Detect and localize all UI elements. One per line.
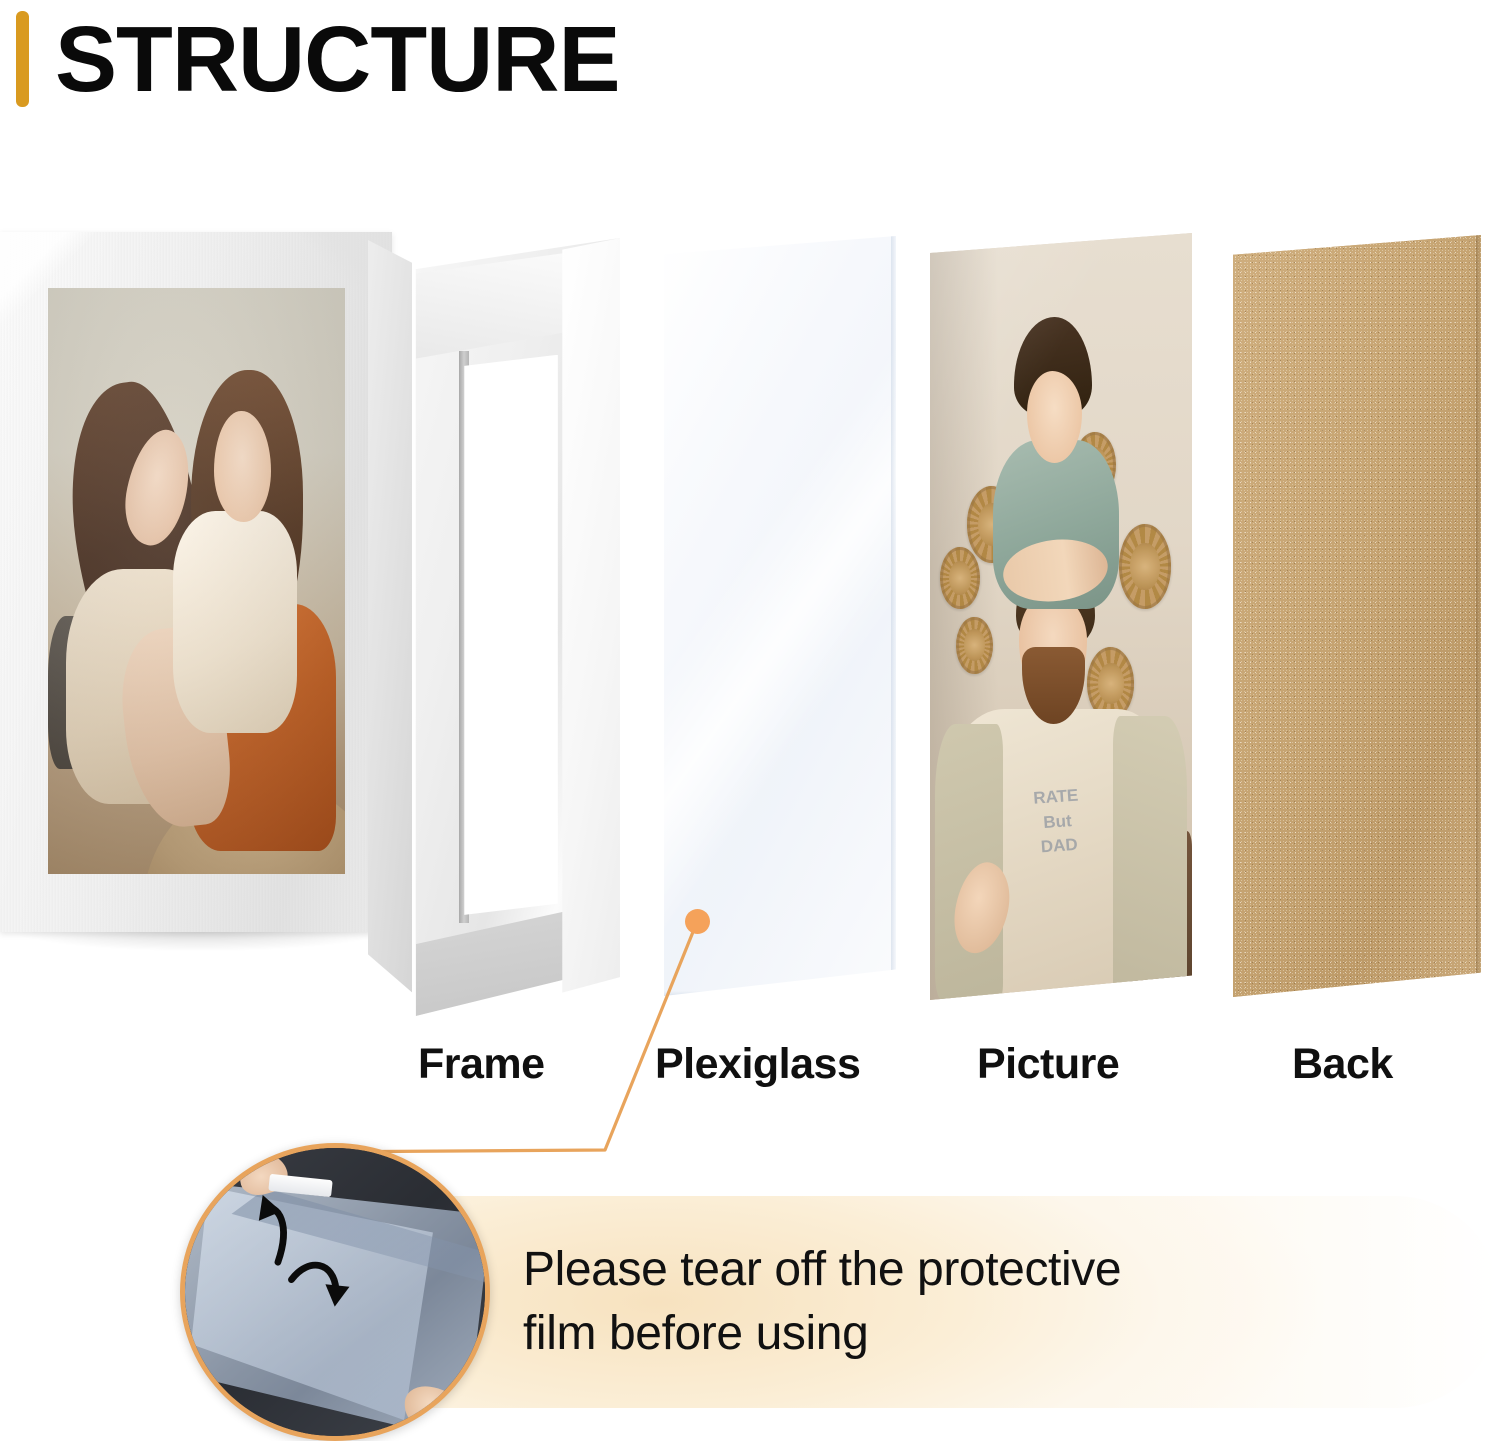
protective-film-photo-circle	[180, 1143, 490, 1441]
tip-line-2: film before using	[523, 1302, 1323, 1366]
callout-dot-plexiglass	[685, 909, 710, 934]
infographic-page: STRUCTURE	[0, 0, 1500, 1441]
label-frame: Frame	[418, 1040, 545, 1089]
plexiglass-sheen	[664, 236, 896, 996]
plexiglass-right-edge	[891, 236, 896, 996]
label-back: Back	[1292, 1040, 1393, 1089]
empty-frame-side-depth	[562, 238, 620, 1016]
label-plexiglass: Plexiglass	[655, 1040, 860, 1089]
part-frame-assembled	[0, 232, 392, 932]
photo-mother-daughter	[48, 288, 345, 874]
part-labels-row: Frame Plexiglass Picture Back	[0, 1040, 1500, 1110]
plexiglass-bottom-edge	[664, 991, 896, 996]
tip-line-1: Please tear off the protective	[523, 1238, 1323, 1302]
peel-direction-arrows	[185, 1148, 485, 1436]
part-picture: RATEButDAD	[930, 233, 1192, 1000]
part-back-board	[1233, 235, 1481, 997]
label-picture: Picture	[977, 1040, 1119, 1089]
exploded-parts-row: RATEButDAD	[0, 0, 1500, 1050]
empty-frame-opening	[462, 355, 557, 915]
arrow-down-head	[323, 1284, 349, 1308]
back-board-edge	[1476, 235, 1481, 997]
frame-photo-window	[48, 288, 345, 874]
tip-text: Please tear off the protective film befo…	[523, 1238, 1323, 1366]
part-frame-empty	[398, 238, 620, 1016]
part-plexiglass	[664, 236, 896, 996]
photo-father-son: RATEButDAD	[930, 233, 1192, 1000]
